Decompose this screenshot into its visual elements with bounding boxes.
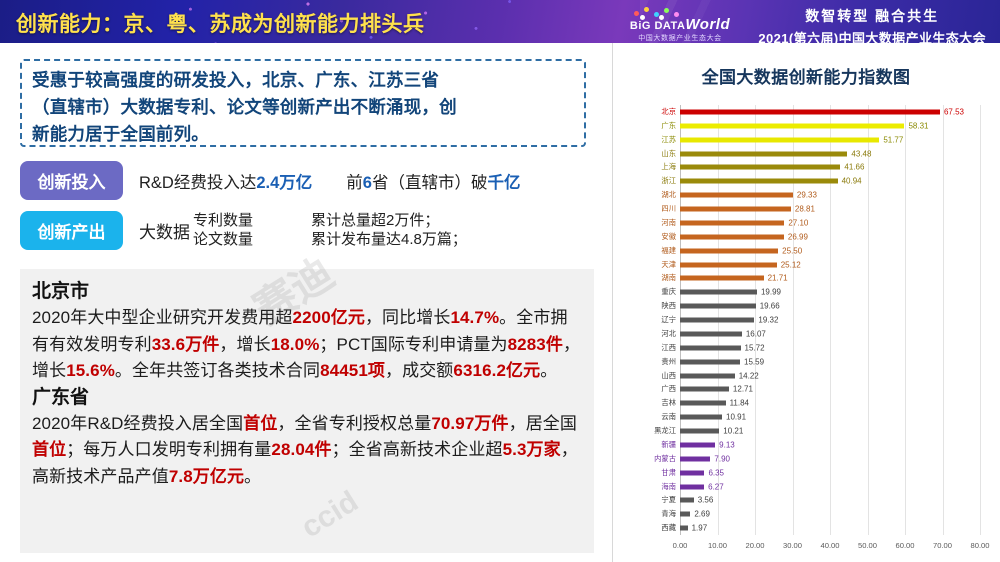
bar-category-label: 陕西 <box>628 302 680 310</box>
bar-track: 11.84 <box>680 396 988 410</box>
chart-bar-row: 内蒙古7.90 <box>628 452 988 466</box>
bar <box>680 429 719 434</box>
gd-t5: ；每万人口发明专利拥有量 <box>66 440 271 459</box>
gd-t7: 企业超 <box>451 440 502 459</box>
bj-t3: 。 <box>499 308 516 327</box>
bar <box>680 193 793 198</box>
chart-title: 全国大数据创新能力指数图 <box>612 63 1000 88</box>
bar-track: 2.69 <box>680 507 988 521</box>
chart-bar-row: 福建25.50 <box>628 244 988 258</box>
beijing-paragraph: 2020年大中型企业研究开发费用超2200亿元，同比增长14.7%。全市拥有有效… <box>32 305 582 385</box>
chart-bar-row: 贵州15.59 <box>628 355 988 369</box>
chart-bar-row: 甘肃6.35 <box>628 466 988 480</box>
bar-category-label: 宁夏 <box>628 496 680 504</box>
bar-category-label: 四川 <box>628 205 680 213</box>
bar-track: 40.94 <box>680 174 988 188</box>
output-value-papers: 累计发布量达4.8万篇； <box>311 230 467 249</box>
chart-bar-row: 辽宁19.32 <box>628 313 988 327</box>
bj-v7: 84451 <box>320 361 368 380</box>
chart-bar-row: 广东58.31 <box>628 119 988 133</box>
bar <box>680 234 784 239</box>
bar-track: 26.99 <box>680 230 988 244</box>
bar-value-label: 10.21 <box>723 427 743 436</box>
chart-bar-row: 安徽26.99 <box>628 230 988 244</box>
bar <box>680 207 791 212</box>
bar-category-label: 福建 <box>628 247 680 255</box>
bar <box>680 387 729 392</box>
bar-value-label: 9.13 <box>719 440 735 449</box>
chart-bar-row: 广西12.71 <box>628 383 988 397</box>
chart-bar-row: 河北16.07 <box>628 327 988 341</box>
investment-mid-2: 省（直辖市）破 <box>372 174 488 192</box>
chart-bar-row: 湖南21.71 <box>628 272 988 286</box>
bar <box>680 415 722 420</box>
bar-track: 28.81 <box>680 202 988 216</box>
x-axis-tick: 70.00 <box>933 541 952 550</box>
chart-bar-row: 江西15.72 <box>628 341 988 355</box>
bar-track: 25.50 <box>680 244 988 258</box>
bar-value-label: 51.77 <box>883 135 903 144</box>
bar-category-label: 贵州 <box>628 358 680 366</box>
bar-track: 3.56 <box>680 494 988 508</box>
investment-text: R&D经费投入达2.4万亿前6省（直辖市）破千亿 <box>139 169 520 193</box>
callout-line-2: （直辖市）大数据专利、论文等创新产出不断涌现，创 <box>32 94 574 121</box>
bar-track: 67.53 <box>680 105 988 119</box>
conference-slogan: 数智转型 融合共生 <box>758 6 986 26</box>
bar-track: 10.21 <box>680 424 988 438</box>
bar-value-label: 40.94 <box>842 177 862 186</box>
x-axis-tick: 80.00 <box>970 541 989 550</box>
guangdong-title: 广东省 <box>32 385 582 411</box>
callout-line-1: 受惠于较高强度的研发投入，北京、广东、江苏三省 <box>32 67 574 94</box>
output-body: 大数据 专利数量 论文数量 累计总量超2万件； 累计发布量达4.8万篇； <box>139 211 467 249</box>
chart-bar-row: 四川28.81 <box>628 202 988 216</box>
bar <box>680 359 740 364</box>
chart-bar-row: 江苏51.77 <box>628 133 988 147</box>
investment-prefix: R&D经费投入达 <box>139 174 256 192</box>
gd-v3: 首位 <box>32 440 66 459</box>
bar <box>680 151 847 156</box>
bar-category-label: 安徽 <box>628 233 680 241</box>
output-item-papers: 论文数量 <box>193 230 253 249</box>
investment-value: 2.4万亿 <box>256 174 312 192</box>
bar-track: 21.71 <box>680 272 988 286</box>
bar <box>680 137 879 142</box>
chart-bar-row: 黑龙江10.21 <box>628 424 988 438</box>
bar-value-label: 67.53 <box>944 107 964 116</box>
chart-bar-row: 河南27.10 <box>628 216 988 230</box>
bar-track: 19.99 <box>680 285 988 299</box>
bar <box>680 318 754 323</box>
gd-v4: 28.04件 <box>271 440 331 459</box>
bj-t11: 。 <box>540 361 557 380</box>
chart-bar-row: 上海41.66 <box>628 161 988 175</box>
bar-track: 15.72 <box>680 341 988 355</box>
bar-value-label: 15.59 <box>744 357 764 366</box>
conference-name: 2021(第六届)中国大数据产业生态大会 <box>758 28 986 43</box>
chart-bar-row: 重庆19.99 <box>628 285 988 299</box>
bar-category-label: 青海 <box>628 510 680 518</box>
bj-v8: 项 <box>368 361 385 380</box>
chart-x-axis: 0.0010.0020.0030.0040.0050.0060.0070.008… <box>680 536 980 560</box>
x-axis-tick: 30.00 <box>783 541 802 550</box>
bar-value-label: 19.66 <box>760 302 780 311</box>
gd-v5: 5.3万家 <box>503 440 561 459</box>
output-values: 累计总量超2万件； 累计发布量达4.8万篇； <box>311 211 467 249</box>
chart-bar-row: 吉林11.84 <box>628 396 988 410</box>
bar <box>680 304 756 309</box>
chart-bar-row: 陕西19.66 <box>628 299 988 313</box>
bar-category-label: 山西 <box>628 372 680 380</box>
bar-category-label: 江西 <box>628 344 680 352</box>
bar-value-label: 14.22 <box>739 371 759 380</box>
bar-category-label: 甘肃 <box>628 469 680 477</box>
bar-track: 16.07 <box>680 327 988 341</box>
bar-track: 58.31 <box>680 119 988 133</box>
bar-value-label: 2.69 <box>694 510 710 519</box>
innovation-investment-row: 创新投入 R&D经费投入达2.4万亿前6省（直辖市）破千亿 <box>20 161 600 200</box>
bar <box>680 276 764 281</box>
gd-t4: 居全国 <box>526 414 577 433</box>
bar-track: 25.12 <box>680 258 988 272</box>
chart-bar-row: 山东43.48 <box>628 147 988 161</box>
gd-v2: 70.97万件 <box>431 414 508 433</box>
x-axis-tick: 20.00 <box>745 541 764 550</box>
bar-category-label: 浙江 <box>628 177 680 185</box>
bar-track: 43.48 <box>680 147 988 161</box>
bar-value-label: 6.27 <box>708 482 724 491</box>
investment-count: 6 <box>363 174 372 192</box>
bj-v1: 2200亿元 <box>293 308 365 327</box>
bj-v6: 15.6% <box>66 361 115 380</box>
bar <box>680 345 741 350</box>
bj-v3: 33.6万件 <box>152 335 220 354</box>
callout-line-3: 新能力居于全国前列。 <box>32 121 574 148</box>
bj-v2: 14.7% <box>450 308 499 327</box>
gd-t2: ，全省专利授权总量 <box>277 414 431 433</box>
logo-dots-icon <box>628 6 732 19</box>
x-axis-tick: 50.00 <box>858 541 877 550</box>
bar-value-label: 12.71 <box>733 385 753 394</box>
bar-category-label: 广西 <box>628 385 680 393</box>
bj-t1: 2020年大中型企业研究开发费用超 <box>32 308 293 327</box>
tag-innovation-investment: 创新投入 <box>20 161 123 200</box>
x-axis-tick: 40.00 <box>820 541 839 550</box>
chart-bar-row: 青海2.69 <box>628 507 988 521</box>
bar <box>680 484 704 489</box>
bar-track: 7.90 <box>680 452 988 466</box>
bar <box>680 123 904 128</box>
beijing-title: 北京市 <box>32 279 582 305</box>
chart-bar-row: 天津25.12 <box>628 258 988 272</box>
chart-bar-row: 浙江40.94 <box>628 174 988 188</box>
output-item-patents: 专利数量 <box>193 211 253 230</box>
bar-track: 12.71 <box>680 383 988 397</box>
gd-t3: ， <box>509 414 526 433</box>
bj-t2: ，同比增长 <box>365 308 451 327</box>
bar-value-label: 19.32 <box>758 316 778 325</box>
bar-category-label: 河北 <box>628 330 680 338</box>
bar-category-label: 北京 <box>628 108 680 116</box>
bar-category-label: 天津 <box>628 261 680 269</box>
bar-track: 19.32 <box>680 313 988 327</box>
bar-value-label: 1.97 <box>692 524 708 533</box>
bigdata-label: 大数据 <box>139 218 190 243</box>
bj-v5: 8283件 <box>508 335 563 354</box>
logo-subtitle: 中国大数据产业生态大会 <box>628 33 732 43</box>
bar-value-label: 26.99 <box>788 232 808 241</box>
investment-value-2: 千亿 <box>487 174 520 192</box>
bar <box>680 526 688 531</box>
bar <box>680 442 715 447</box>
bar-track: 9.13 <box>680 438 988 452</box>
bar-value-label: 28.81 <box>795 205 815 214</box>
bj-t6: ；PCT国际专利申 <box>319 335 456 354</box>
bar-track: 10.91 <box>680 410 988 424</box>
bar-track: 15.59 <box>680 355 988 369</box>
bar-value-label: 27.10 <box>788 218 808 227</box>
bar-category-label: 辽宁 <box>628 316 680 324</box>
bar-value-label: 19.99 <box>761 288 781 297</box>
bar <box>680 248 778 253</box>
bar-category-label: 上海 <box>628 163 680 171</box>
bar-category-label: 吉林 <box>628 399 680 407</box>
bar-chart: 北京67.53广东58.31江苏51.77山东43.48上海41.66浙江40.… <box>628 105 988 560</box>
chart-bar-row: 云南10.91 <box>628 410 988 424</box>
investment-prefix-2: 前 <box>346 174 363 192</box>
bar-track: 6.35 <box>680 466 988 480</box>
bj-t9: 。全年共签订各类技术合同 <box>115 361 320 380</box>
bar <box>680 373 735 378</box>
bar-value-label: 6.35 <box>708 468 724 477</box>
bar-track: 27.10 <box>680 216 988 230</box>
gd-t9: 。 <box>244 467 261 486</box>
bar <box>680 179 838 184</box>
left-content-column: 受惠于较高强度的研发投入，北京、广东、江苏三省 （直辖市）大数据专利、论文等创新… <box>0 43 612 562</box>
gd-v1: 首位 <box>243 414 277 433</box>
x-axis-tick: 10.00 <box>708 541 727 550</box>
bar-category-label: 湖南 <box>628 274 680 282</box>
bj-t7: 请量为 <box>456 335 507 354</box>
bar-value-label: 43.48 <box>851 149 871 158</box>
bar-value-label: 21.71 <box>768 274 788 283</box>
bar-category-label: 湖北 <box>628 191 680 199</box>
gd-v6: 7.8万亿元 <box>169 467 244 486</box>
bar-category-label: 内蒙古 <box>628 455 680 463</box>
bar-value-label: 7.90 <box>714 454 730 463</box>
tag-innovation-output: 创新产出 <box>20 211 123 250</box>
bar-value-label: 11.84 <box>730 399 749 408</box>
bar-category-label: 广东 <box>628 122 680 130</box>
bar-value-label: 29.33 <box>797 191 817 200</box>
bar-track: 1.97 <box>680 521 988 535</box>
bar-category-label: 山东 <box>628 150 680 158</box>
chart-bar-row: 山西14.22 <box>628 369 988 383</box>
bar <box>680 498 694 503</box>
conference-branding: 数智转型 融合共生 2021(第六届)中国大数据产业生态大会 <box>758 6 986 43</box>
bar <box>680 401 726 406</box>
chart-bar-row: 海南6.27 <box>628 480 988 494</box>
bar <box>680 512 690 517</box>
bar <box>680 109 940 114</box>
bj-t5: ，增长 <box>219 335 270 354</box>
innovation-output-row: 创新产出 大数据 专利数量 论文数量 累计总量超2万件； 累计发布量达4.8万篇… <box>20 211 600 250</box>
bar <box>680 456 710 461</box>
bar-category-label: 云南 <box>628 413 680 421</box>
bar-category-label: 海南 <box>628 483 680 491</box>
output-items: 专利数量 论文数量 <box>193 211 253 249</box>
guangdong-paragraph: 2020年R&D经费投入居全国首位，全省专利授权总量70.97万件，居全国首位；… <box>32 411 582 491</box>
bj-v9: 6316.2亿元 <box>453 361 540 380</box>
bar-track: 41.66 <box>680 161 988 175</box>
x-axis-tick: 0.00 <box>673 541 688 550</box>
chart-bar-rows: 北京67.53广东58.31江苏51.77山东43.48上海41.66浙江40.… <box>628 105 988 535</box>
chart-bar-row: 宁夏3.56 <box>628 494 988 508</box>
bar-track: 6.27 <box>680 480 988 494</box>
panel-divider <box>612 43 613 562</box>
bar-value-label: 16.07 <box>746 329 766 338</box>
chart-bar-row: 北京67.53 <box>628 105 988 119</box>
logo-bigdata-text: BiG DATA <box>630 20 686 32</box>
bar-track: 19.66 <box>680 299 988 313</box>
output-value-patents: 累计总量超2万件； <box>311 211 467 230</box>
bar <box>680 331 742 336</box>
bar-category-label: 西藏 <box>628 524 680 532</box>
gd-t1: 2020年R&D经费投入居全国 <box>32 414 243 433</box>
bar <box>680 290 757 295</box>
bar-category-label: 新疆 <box>628 441 680 449</box>
bj-t10: ，成交额 <box>385 361 453 380</box>
bar-value-label: 58.31 <box>908 121 928 130</box>
bar-category-label: 河南 <box>628 219 680 227</box>
bar-value-label: 25.50 <box>782 246 802 255</box>
bar-category-label: 重庆 <box>628 288 680 296</box>
bar <box>680 470 704 475</box>
province-details-box: 北京市 2020年大中型企业研究开发费用超2200亿元，同比增长14.7%。全市… <box>20 269 594 553</box>
bj-v4: 18.0% <box>271 335 320 354</box>
gd-t6: ；全省高新技术 <box>332 440 452 459</box>
bar <box>680 165 840 170</box>
bar-track: 29.33 <box>680 188 988 202</box>
slide-header: 创新能力：京、粤、苏成为创新能力排头兵 BiG DATAWorld 中国大数据产… <box>0 0 1000 43</box>
bar-category-label: 江苏 <box>628 136 680 144</box>
summary-callout-box: 受惠于较高强度的研发投入，北京、广东、江苏三省 （直辖市）大数据专利、论文等创新… <box>20 59 586 147</box>
bar-value-label: 3.56 <box>698 496 714 505</box>
page-title: 创新能力：京、粤、苏成为创新能力排头兵 <box>16 8 425 38</box>
bigdata-world-logo: BiG DATAWorld 中国大数据产业生态大会 <box>628 6 732 43</box>
chart-bar-row: 新疆9.13 <box>628 438 988 452</box>
chart-panel: 全国大数据创新能力指数图 北京67.53广东58.31江苏51.77山东43.4… <box>612 43 1000 562</box>
bar-category-label: 黑龙江 <box>628 427 680 435</box>
bar-value-label: 41.66 <box>844 163 864 172</box>
bar-track: 51.77 <box>680 133 988 147</box>
bar-track: 14.22 <box>680 369 988 383</box>
bar <box>680 220 784 225</box>
chart-bar-row: 湖北29.33 <box>628 188 988 202</box>
bar-value-label: 15.72 <box>745 343 765 352</box>
bar <box>680 262 777 267</box>
bar-value-label: 10.91 <box>726 413 746 422</box>
bar-value-label: 25.12 <box>781 260 801 269</box>
x-axis-tick: 60.00 <box>895 541 914 550</box>
chart-bar-row: 西藏1.97 <box>628 521 988 535</box>
